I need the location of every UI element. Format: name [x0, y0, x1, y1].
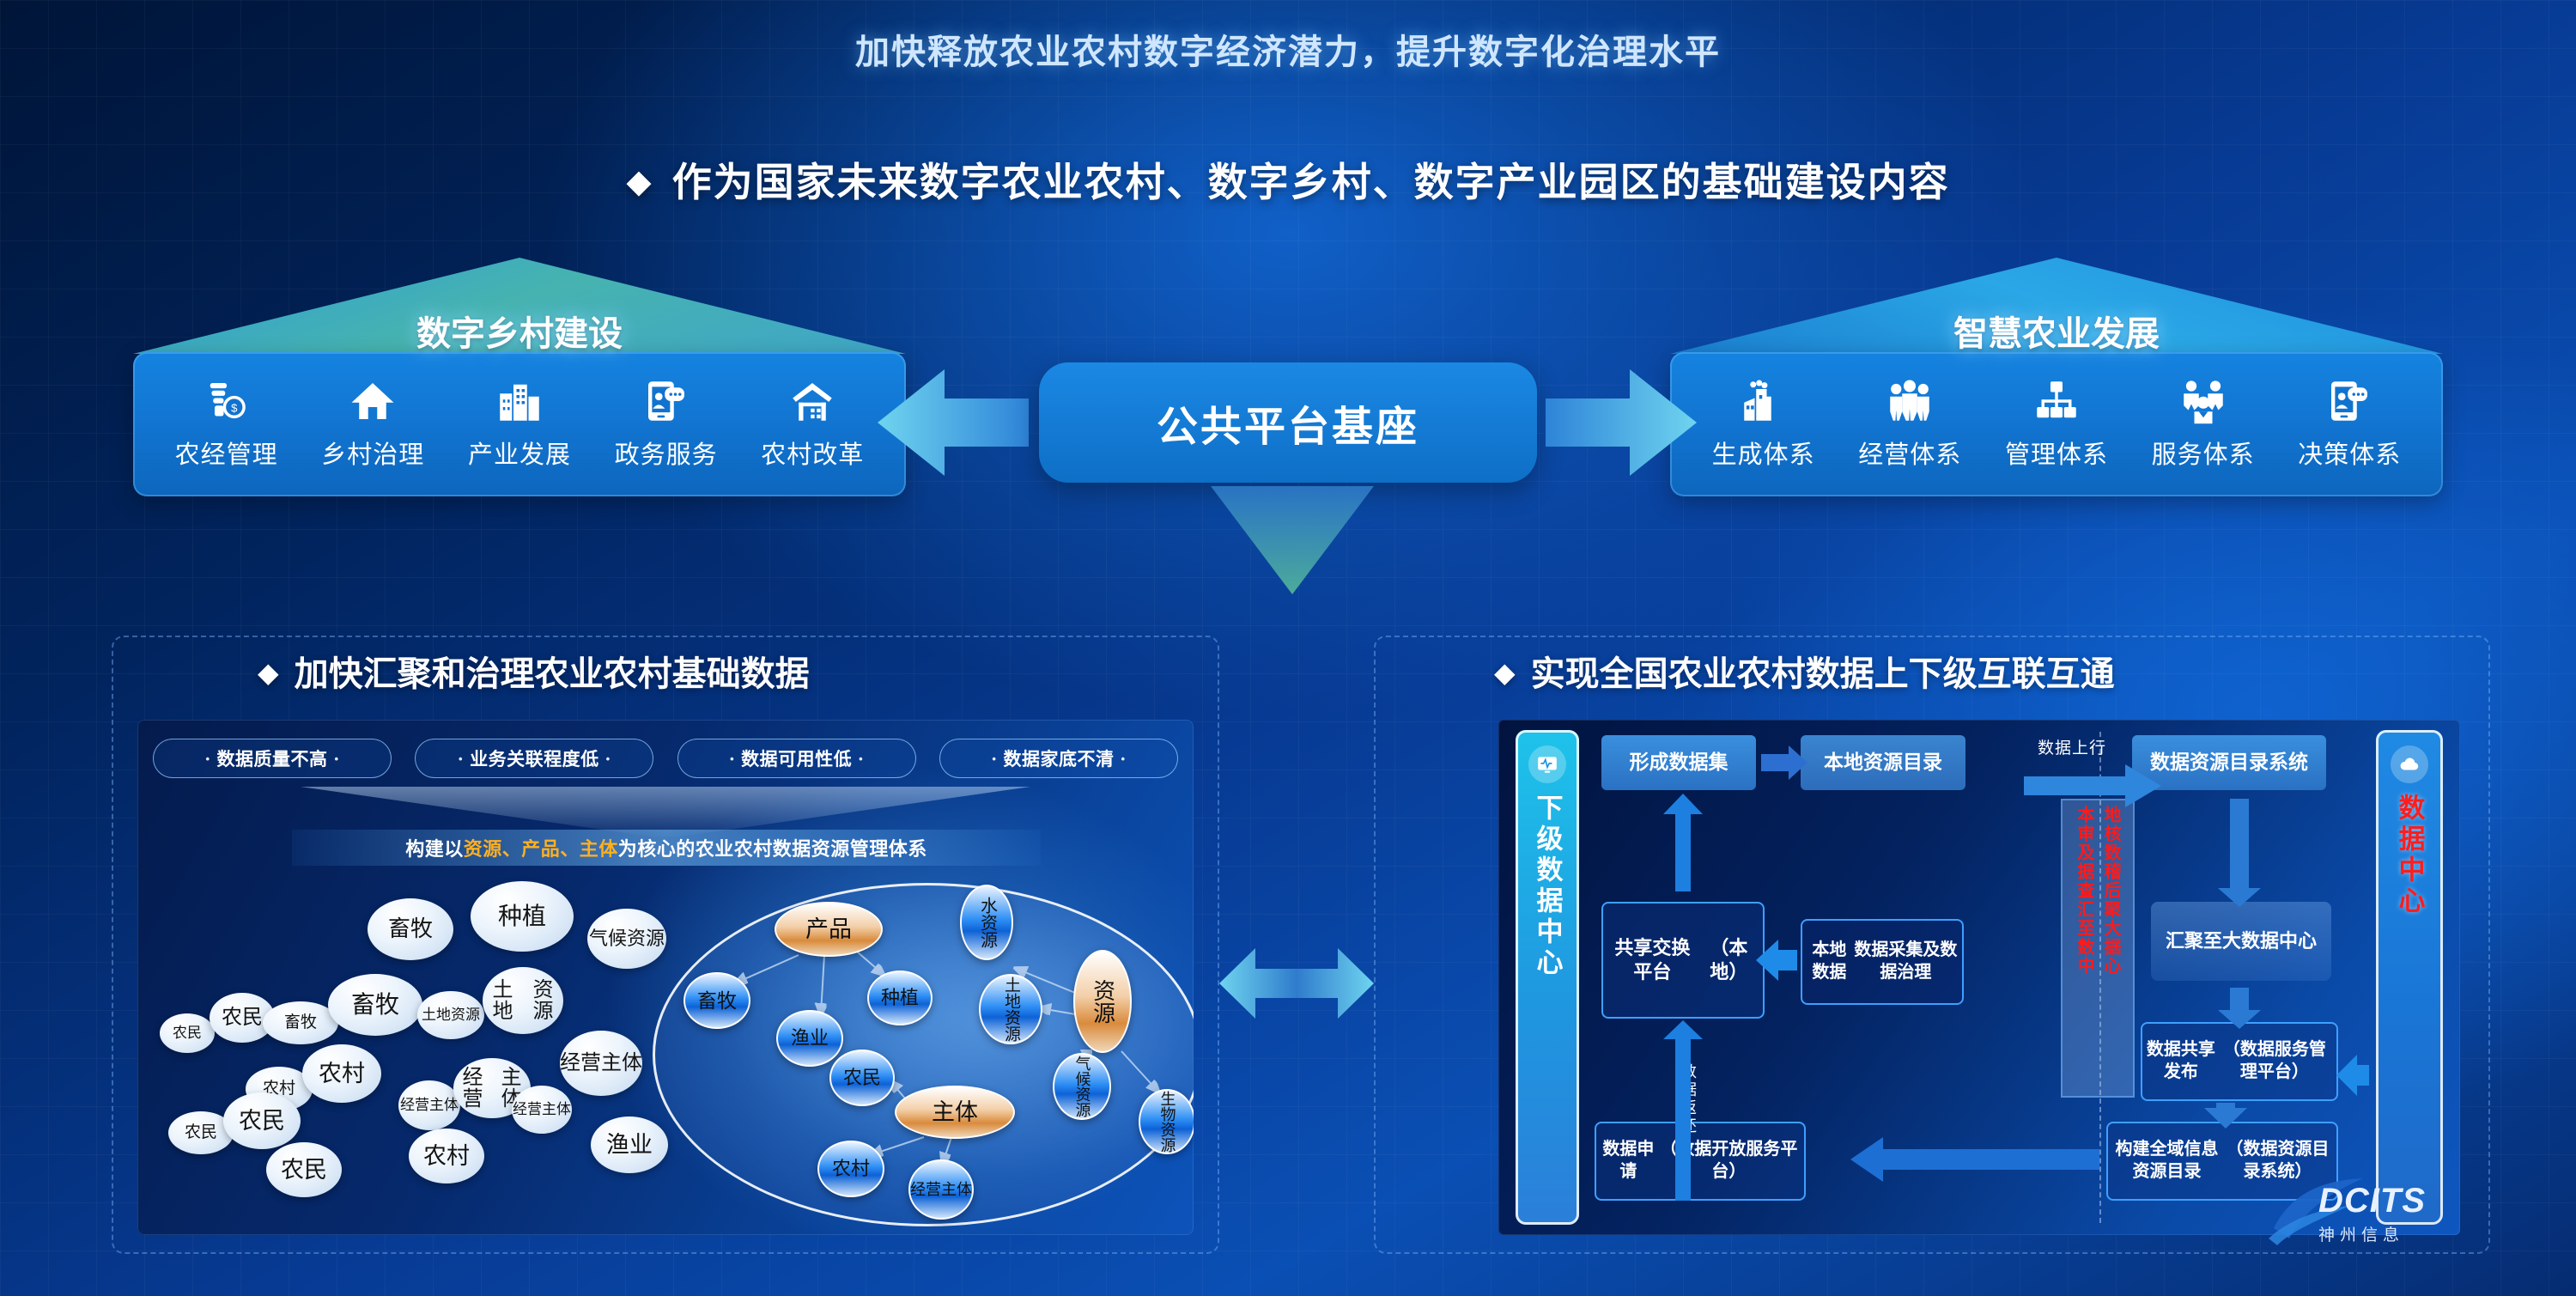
graph-node-6: 渔业	[776, 1010, 843, 1067]
banner-highlight: 资源、产品、主体	[464, 834, 618, 861]
chaos-bubble-1: 种植	[471, 881, 574, 952]
home-icon	[304, 374, 441, 428]
graph-node-5: 土地资源	[979, 974, 1042, 1044]
chaos-bubble-3: 农民	[160, 1013, 215, 1053]
pill-dot-icon: •	[730, 752, 734, 765]
pill-dot-icon: •	[992, 752, 996, 765]
pill-dot-icon: •	[606, 752, 611, 765]
company-logo: DCITS 神州信息	[2318, 1182, 2426, 1245]
governance-banner: 构建以资源、产品、主体为核心的农业农村数据资源管理体系	[292, 830, 1041, 866]
house-left-item-0-label: 农经管理	[158, 435, 295, 471]
house-left-title: 数字乡村建设	[133, 306, 906, 356]
center-platform-pill[interactable]: 公共平台基座	[1039, 362, 1537, 483]
diamond-bullet-right-icon: ◆	[1494, 656, 1516, 689]
banner-suffix: 为核心的农业农村数据资源管理体系	[618, 834, 927, 861]
graph-node-9: 生物资源	[1139, 1089, 1194, 1154]
diamond-bullet-left-icon: ◆	[258, 656, 279, 689]
house-left-item-2-label: 产业发展	[451, 435, 588, 471]
arrow-left-icon	[878, 366, 1029, 479]
house-right-item-3-label: 服务体系	[2135, 435, 2272, 471]
graph-node-8: 气候资源	[1053, 1053, 1111, 1120]
left-section-title: ◆加快汇聚和治理农业农村基础数据	[258, 646, 810, 696]
problem-pill-2[interactable]: •数据可用性低•	[677, 739, 916, 778]
house-panel-digital-village: 数字乡村建设 $ 农经管理 乡村治理 产业发展 政务服务	[133, 258, 906, 496]
flow-box-aggregate[interactable]: 汇聚至大数据中心	[2151, 902, 2331, 981]
banner-prefix: 构建以	[405, 834, 464, 861]
house-left-item-3[interactable]: 政务服务	[598, 374, 735, 471]
house-left-body: $ 农经管理 乡村治理 产业发展 政务服务 农村改革	[133, 352, 906, 496]
red-annotation-col-2: 地核数稽后聚大据心	[2099, 806, 2123, 1098]
money-stack-icon: $	[158, 374, 295, 428]
mobile-chat-icon	[2281, 374, 2418, 428]
flow-box-local-catalog[interactable]: 本地资源目录	[1801, 735, 1965, 790]
chaos-bubble-12: 经营主体	[398, 1080, 460, 1130]
lower-data-center-label: 下级数据中心	[1528, 794, 1567, 979]
graph-node-7: 农民	[829, 1050, 895, 1106]
logo-wordmark: DCITS	[2318, 1182, 2426, 1220]
pill-dot-icon: •	[459, 752, 463, 765]
chaos-bubble-8: 土地资源	[483, 967, 563, 1034]
flow-box-dataset[interactable]: 形成数据集	[1601, 735, 1756, 790]
house-left-item-4-label: 农村改革	[744, 435, 881, 471]
house-left-item-0[interactable]: $ 农经管理	[158, 374, 295, 471]
graph-node-3: 畜牧	[683, 972, 750, 1029]
chaos-bubble-16: 农民	[223, 1092, 301, 1149]
headline-secondary: ◆作为国家未来数字农业农村、数字乡村、数字产业园区的基础建设内容	[0, 151, 2576, 208]
chaos-bubble-14: 经营主体	[512, 1086, 572, 1134]
red-annotation-column: 本审及据查汇至数中 地核数稽后聚大据心	[2061, 799, 2135, 1098]
chaos-bubble-5: 畜牧	[263, 1001, 338, 1044]
problem-pill-0-label: 数据质量不高	[217, 745, 328, 771]
service-people-icon	[2135, 374, 2272, 428]
graph-node-11: 农村	[817, 1141, 884, 1197]
house-reform-icon	[744, 374, 881, 428]
factory-icon	[1695, 374, 1832, 428]
house-right-item-1[interactable]: 经营体系	[1841, 374, 1978, 471]
diamond-bullet-icon: ◆	[626, 162, 653, 201]
house-right-item-0-label: 生成体系	[1695, 435, 1832, 471]
house-right-item-4-label: 决策体系	[2281, 435, 2418, 471]
chaos-bubble-6: 畜牧	[328, 974, 422, 1036]
house-right-item-0[interactable]: 生成体系	[1695, 374, 1832, 471]
data-interconnect-board: 下级数据中心 数据中心 形成数据集本地资源目录数据资源目录系统共享交换平台（本地…	[1498, 720, 2460, 1235]
chaos-bubble-18: 农村	[409, 1129, 484, 1183]
chaos-bubble-7: 土地资源	[417, 991, 484, 1039]
house-left-item-1-label: 乡村治理	[304, 435, 441, 471]
graph-node-10: 主体	[895, 1086, 1015, 1139]
graph-node-0: 产品	[775, 902, 883, 957]
house-panel-smart-agriculture: 智慧农业发展 生成体系 经营体系 管理体系 服务体系	[1670, 258, 2443, 496]
red-annotation-col-1: 本审及据查汇至数中	[2072, 806, 2097, 1098]
pill-dot-icon: •	[335, 752, 339, 765]
flow-box-local-data[interactable]: 本地数据数据采集及数据治理	[1801, 919, 1964, 1005]
logo-chinese-name: 神州信息	[2318, 1222, 2426, 1245]
graph-node-1: 水资源	[960, 885, 1013, 960]
problem-pill-3-label: 数据家底不清	[1003, 745, 1114, 771]
data-center-column[interactable]: 数据中心	[2376, 730, 2443, 1225]
organized-node-graph: 产品水资源资源畜牧种植土地资源渔业农民气候资源生物资源主体农村经营主体	[653, 883, 1194, 1226]
house-right-item-4[interactable]: 决策体系	[2281, 374, 2418, 471]
problem-pill-1-label: 业务关联程度低	[470, 745, 599, 771]
chaos-bubble-11: 农村	[302, 1044, 381, 1103]
flow-box-data-apply[interactable]: 数据申请（数据开放服务平台）	[1595, 1122, 1806, 1201]
headline-secondary-text: 作为国家未来数字农业农村、数字乡村、数字产业园区的基础建设内容	[672, 160, 1950, 204]
svg-text:$: $	[231, 401, 238, 414]
data-governance-board: •数据质量不高••业务关联程度低••数据可用性低••数据家底不清• 构建以资源、…	[137, 720, 1194, 1235]
right-section-title: ◆实现全国农业农村数据上下级互联互通	[1494, 646, 2115, 696]
pill-dot-icon: •	[1121, 752, 1125, 765]
mobile-service-icon	[598, 374, 735, 428]
org-chart-icon	[1988, 374, 2125, 428]
chaotic-bubble-cloud: 畜牧种植气候资源农民农民畜牧畜牧土地资源土地资源经营主体农村农村经营主体经营主体…	[151, 871, 666, 1223]
data-return-label: 数据返还	[1677, 1063, 1699, 1135]
problem-pill-3[interactable]: •数据家底不清•	[939, 739, 1178, 778]
headline-primary: 加快释放农业农村数字经济潜力，提升数字化治理水平	[0, 24, 2576, 74]
house-left-item-3-label: 政务服务	[598, 435, 735, 471]
flow-box-share-platform[interactable]: 共享交换平台（本地）	[1601, 902, 1765, 1019]
problem-pill-row: •数据质量不高••业务关联程度低••数据可用性低••数据家底不清•	[153, 739, 1178, 778]
upstream-label: 数据上行	[2038, 735, 2106, 758]
bidirectional-arrow-icon	[1219, 936, 1374, 1031]
problem-pill-0[interactable]: •数据质量不高•	[153, 739, 392, 778]
buildings-icon	[451, 374, 588, 428]
pill-dot-icon: •	[859, 752, 863, 765]
lower-data-center-column[interactable]: 下级数据中心	[1516, 730, 1579, 1225]
left-section-title-text: 加快汇聚和治理农业农村基础数据	[295, 655, 810, 693]
graph-node-2: 资源	[1073, 950, 1132, 1053]
chaos-bubble-9: 经营主体	[560, 1031, 642, 1096]
house-left-item-2[interactable]: 产业发展	[451, 374, 588, 471]
chaos-bubble-17: 农民	[266, 1142, 342, 1197]
house-left-item-1[interactable]: 乡村治理	[304, 374, 441, 471]
house-left-item-4[interactable]: 农村改革	[744, 374, 881, 471]
chaos-bubble-0: 畜牧	[368, 898, 453, 960]
pill-dot-icon: •	[205, 752, 210, 765]
arrow-down-icon	[1211, 486, 1374, 594]
graph-node-4: 种植	[867, 970, 933, 1025]
upstream-arrow-icon	[2024, 763, 2161, 811]
house-right-body: 生成体系 经营体系 管理体系 服务体系 决策体系	[1670, 352, 2443, 496]
flow-box-share-publish[interactable]: 数据共享发布（数据服务管理平台）	[2141, 1022, 2338, 1101]
house-right-item-2[interactable]: 管理体系	[1988, 374, 2125, 471]
problem-pill-2-label: 数据可用性低	[741, 745, 852, 771]
graph-node-12: 经营主体	[908, 1159, 974, 1220]
monitor-pulse-icon	[1528, 745, 1566, 783]
cloud-icon	[2391, 745, 2428, 783]
people-group-icon	[1841, 374, 1978, 428]
problem-pill-1[interactable]: •业务关联程度低•	[415, 739, 653, 778]
data-center-label: 数据中心	[2391, 794, 2429, 917]
arrow-right-icon	[1546, 366, 1697, 479]
house-right-title: 智慧农业发展	[1670, 306, 2443, 356]
house-right-item-3[interactable]: 服务体系	[2135, 374, 2272, 471]
house-right-item-2-label: 管理体系	[1988, 435, 2125, 471]
right-section-title-text: 实现全国农业农村数据上下级互联互通	[1531, 655, 2115, 693]
house-right-item-1-label: 经营体系	[1841, 435, 1978, 471]
